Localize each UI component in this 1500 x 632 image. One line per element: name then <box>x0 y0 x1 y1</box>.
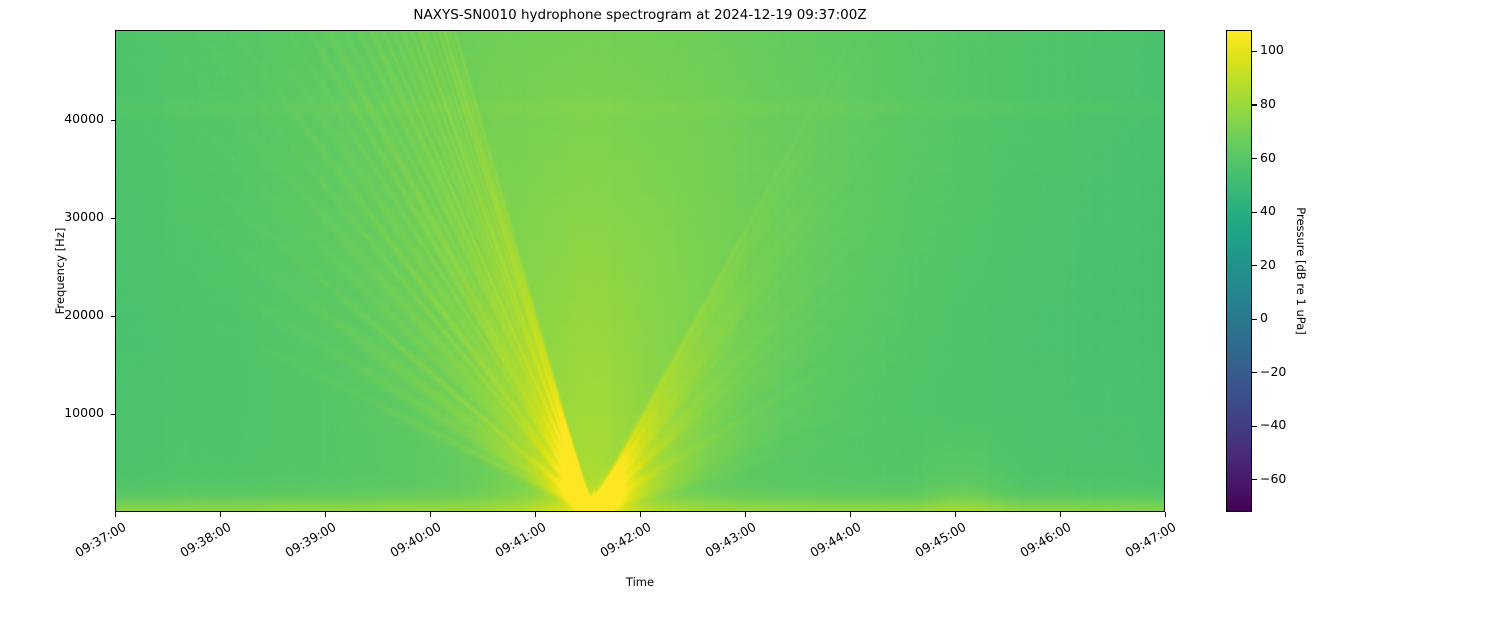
colorbar-tick-mark <box>1252 158 1257 159</box>
colorbar-tick-mark <box>1252 51 1257 52</box>
colorbar-tick-label: −40 <box>1260 417 1286 432</box>
x-tick-mark <box>115 512 116 517</box>
x-tick-mark <box>745 512 746 517</box>
y-tick-mark <box>111 218 116 219</box>
colorbar-tick-mark <box>1252 479 1257 480</box>
y-tick-mark <box>111 316 116 317</box>
x-tick-mark <box>535 512 536 517</box>
colorbar-tick-label: 100 <box>1260 42 1284 57</box>
x-tick-mark <box>640 512 641 517</box>
colorbar-tick-label: −20 <box>1260 364 1286 379</box>
y-tick-label: 20000 <box>0 307 104 322</box>
spectrogram-axes[interactable] <box>115 30 1165 512</box>
x-axis-label: Time <box>115 575 1165 589</box>
colorbar-gradient <box>1227 31 1251 511</box>
colorbar-tick-label: 80 <box>1260 96 1276 111</box>
y-tick-label: 40000 <box>0 111 104 126</box>
colorbar-tick-label: 20 <box>1260 257 1276 272</box>
colorbar-tick-mark <box>1252 212 1257 213</box>
x-tick-mark <box>325 512 326 517</box>
spectrogram-image <box>116 31 1164 511</box>
colorbar[interactable] <box>1226 30 1252 512</box>
x-tick-mark <box>1165 512 1166 517</box>
colorbar-label: Pressure [dB re 1 uPa] <box>1290 30 1308 512</box>
colorbar-tick-label: 40 <box>1260 203 1276 218</box>
y-tick-label: 30000 <box>0 209 104 224</box>
colorbar-tick-mark <box>1252 104 1257 105</box>
colorbar-tick-mark <box>1252 372 1257 373</box>
y-tick-mark <box>111 120 116 121</box>
x-tick-mark <box>220 512 221 517</box>
x-tick-mark <box>1060 512 1061 517</box>
figure-canvas: NAXYS-SN0010 hydrophone spectrogram at 2… <box>0 0 1500 600</box>
colorbar-tick-mark <box>1252 265 1257 266</box>
chart-title: NAXYS-SN0010 hydrophone spectrogram at 2… <box>115 7 1165 23</box>
colorbar-tick-label: 0 <box>1260 310 1268 325</box>
y-tick-label: 10000 <box>0 405 104 420</box>
y-axis-label: Frequency [Hz] <box>53 30 71 512</box>
y-tick-mark <box>111 414 116 415</box>
x-tick-mark <box>850 512 851 517</box>
colorbar-tick-mark <box>1252 426 1257 427</box>
colorbar-tick-label: −60 <box>1260 471 1286 486</box>
x-tick-mark <box>430 512 431 517</box>
x-tick-mark <box>955 512 956 517</box>
colorbar-tick-mark <box>1252 319 1257 320</box>
colorbar-tick-label: 60 <box>1260 150 1276 165</box>
